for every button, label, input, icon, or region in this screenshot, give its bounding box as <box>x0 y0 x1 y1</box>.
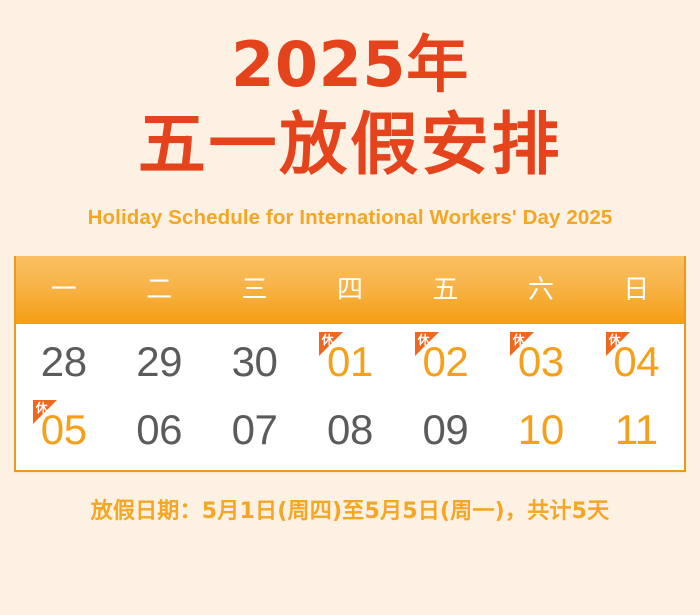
calendar-day-cell[interactable]: 休02 <box>398 328 493 396</box>
calendar-day-cell[interactable]: 10 <box>493 396 588 464</box>
calendar-day-cell[interactable]: 07 <box>207 396 302 464</box>
calendar-day-cell[interactable]: 29 <box>111 328 206 396</box>
calendar-day-number: 07 <box>232 409 278 451</box>
calendar-weekday-header: 一二三四五六日 <box>16 256 684 324</box>
calendar-card: 一二三四五六日 282930休01休02休03休04休0506070809101… <box>14 256 686 472</box>
calendar-day-cell[interactable]: 休05 <box>16 396 111 464</box>
calendar-day-cell[interactable]: 休01 <box>302 328 397 396</box>
calendar-day-number: 05 <box>41 409 87 451</box>
calendar-days-grid: 282930休01休02休03休04休05060708091011 <box>16 324 684 470</box>
weekday-header-cell: 三 <box>207 277 302 303</box>
calendar-day-number: 08 <box>327 409 373 451</box>
weekday-header-cell: 五 <box>398 277 493 303</box>
weekday-header-cell: 一 <box>16 277 111 303</box>
calendar-day-cell[interactable]: 09 <box>398 396 493 464</box>
holiday-date-note: 放假日期：5月1日(周四)至5月5日(周一)，共计5天 <box>91 493 610 525</box>
weekday-header-cell: 日 <box>589 277 684 303</box>
weekday-header-cell: 二 <box>111 277 206 303</box>
calendar-day-cell[interactable]: 休03 <box>493 328 588 396</box>
calendar-day-cell[interactable]: 28 <box>16 328 111 396</box>
calendar-day-number: 06 <box>136 409 182 451</box>
calendar-day-number: 30 <box>232 341 278 383</box>
page-subtitle: Holiday Schedule for International Worke… <box>0 206 700 230</box>
calendar-day-number: 09 <box>422 409 468 451</box>
calendar-day-number: 28 <box>41 341 87 383</box>
page-title-main: 五一放假安排 <box>0 112 700 180</box>
weekday-header-cell: 四 <box>302 277 397 303</box>
holiday-poster: 2025年 五一放假安排 Holiday Schedule for Intern… <box>0 0 700 615</box>
calendar-day-cell[interactable]: 08 <box>302 396 397 464</box>
calendar-day-number: 03 <box>518 341 564 383</box>
calendar-day-cell[interactable]: 11 <box>589 396 684 464</box>
calendar-day-number: 29 <box>136 341 182 383</box>
calendar-day-number: 10 <box>518 409 564 451</box>
title-block: 2025年 五一放假安排 Holiday Schedule for Intern… <box>0 0 700 230</box>
calendar-day-cell[interactable]: 30 <box>207 328 302 396</box>
page-title-year: 2025年 <box>0 34 700 96</box>
calendar-day-cell[interactable]: 休04 <box>589 328 684 396</box>
calendar-day-cell[interactable]: 06 <box>111 396 206 464</box>
weekday-header-cell: 六 <box>493 277 588 303</box>
calendar-day-number: 11 <box>615 409 658 451</box>
calendar-day-number: 01 <box>327 341 373 383</box>
calendar-day-number: 04 <box>613 341 659 383</box>
calendar-day-number: 02 <box>422 341 468 383</box>
